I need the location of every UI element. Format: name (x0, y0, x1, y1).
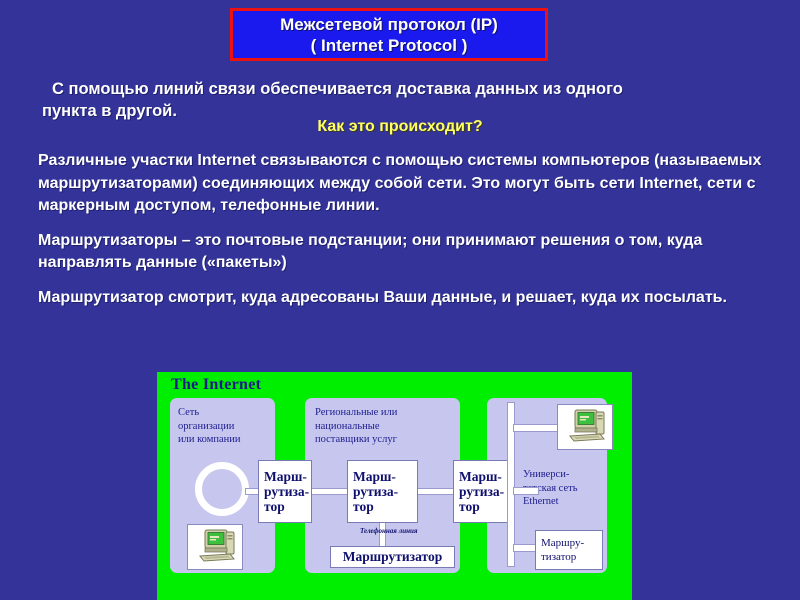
label-isp-line-1: Региональные или (315, 406, 460, 420)
slide-title-line-2: ( Internet Protocol ) (311, 35, 468, 56)
label-org-line-2: организации (178, 420, 273, 434)
question-heading: Как это происходит? (0, 118, 800, 136)
router-uni-line-1: Маршру- (541, 536, 584, 550)
body-text-block: Различные участки Internet связываются с… (38, 150, 778, 309)
body-paragraph-3: Маршрутизатор смотрит, куда адресованы В… (38, 287, 778, 310)
router-1-line-3: тор (264, 499, 285, 514)
internet-diagram: The Internet Сеть организации или компан… (157, 372, 632, 600)
slide-title-box: Межсетевой протокол (IP) ( Internet Prot… (230, 8, 548, 61)
intro-paragraph: С помощью линий связи обеспечивается дос… (42, 78, 768, 122)
router-box-telephone: Маршрутизатор (330, 546, 455, 568)
router-2-line-2: рутиза- (353, 484, 398, 499)
router-box-1: Марш- рутиза- тор (258, 460, 312, 523)
ethernet-stub-middle (513, 487, 539, 495)
body-paragraph-1: Различные участки Internet связываются с… (38, 150, 778, 218)
body-paragraph-2: Маршрутизаторы – это почтовые подстанции… (38, 230, 778, 275)
router-3-line-3: тор (459, 499, 480, 514)
router-uni-line-2: тизатор (541, 550, 576, 564)
telephone-line-label: Телефонная линия (360, 527, 418, 535)
router-2-line-1: Марш- (353, 469, 396, 484)
intro-line-1: С помощью линий связи обеспечивается дос… (42, 78, 768, 100)
slide-title-line-1: Межсетевой протокол (IP) (280, 14, 498, 35)
label-organization-network: Сеть организации или компании (178, 406, 273, 447)
computer-icon-university (557, 404, 613, 450)
wire-router1-to-router2 (310, 488, 349, 495)
router-1-line-2: рутиза- (264, 484, 309, 499)
computer-icon-svg (192, 528, 238, 566)
computer-icon-svg (562, 408, 608, 446)
label-org-line-1: Сеть (178, 406, 273, 420)
ethernet-stub-to-pc (513, 424, 563, 432)
router-2-line-3: тор (353, 499, 374, 514)
router-3-line-2: рутиза- (459, 484, 504, 499)
label-isp-line-3: поставщики услуг (315, 433, 460, 447)
diagram-title: The Internet (171, 376, 261, 394)
router-box-university: Маршру- тизатор (535, 530, 603, 570)
label-uni-line-1: Универси- (523, 468, 605, 482)
label-isp-line-2: национальные (315, 420, 460, 434)
router-1-line-1: Марш- (264, 469, 307, 484)
computer-icon-organization (187, 524, 243, 570)
router-3-line-1: Марш- (459, 469, 502, 484)
router-box-3: Марш- рутиза- тор (453, 460, 515, 523)
wire-router2-to-router3 (416, 488, 455, 495)
token-ring-icon (195, 462, 249, 516)
router-box-2: Марш- рутиза- тор (347, 460, 418, 523)
label-org-line-3: или компании (178, 433, 273, 447)
label-uni-line-3: Ethernet (523, 495, 605, 509)
label-service-providers: Региональные или национальные поставщики… (315, 406, 460, 447)
